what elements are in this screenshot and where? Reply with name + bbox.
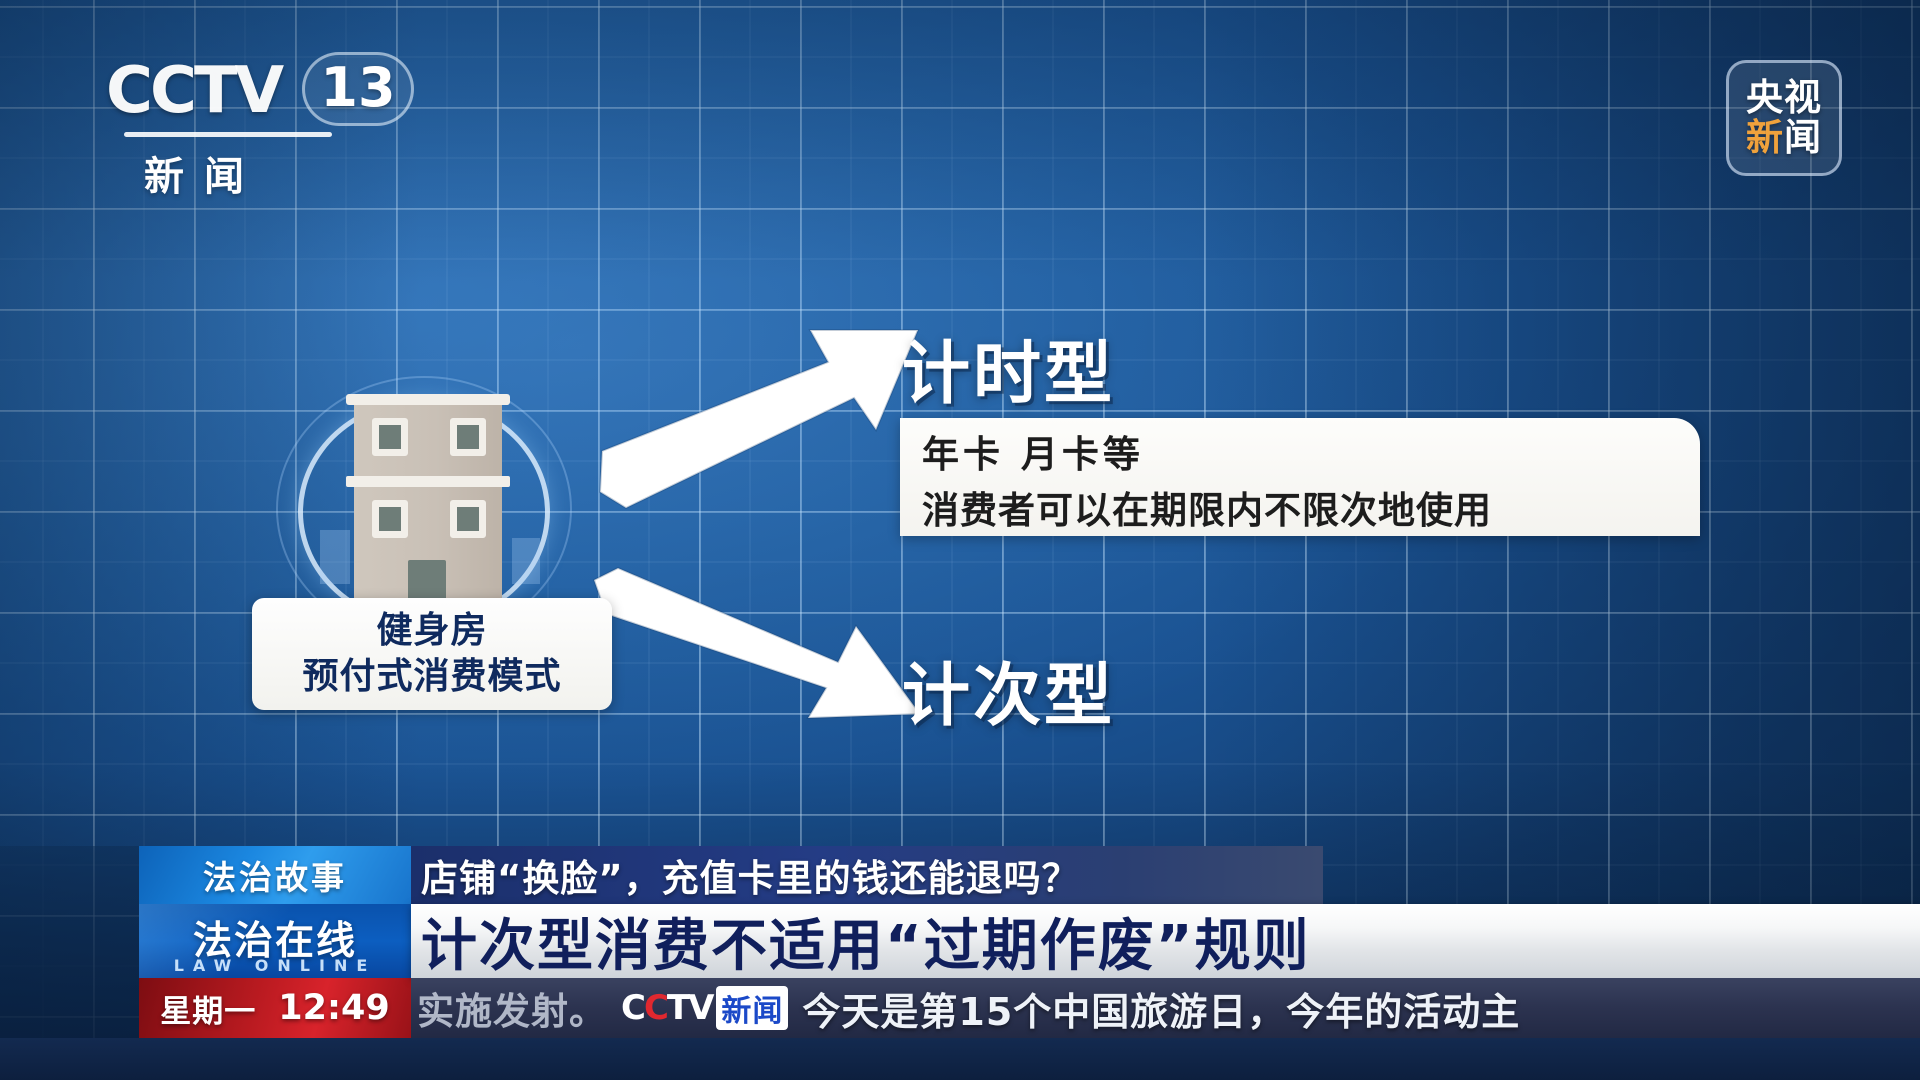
building-window xyxy=(450,500,486,538)
lower-third-left-pad xyxy=(0,846,139,1038)
ticker-cctv-news-logo: CCTV 新闻 xyxy=(621,986,788,1030)
corner-logo-line2: 新闻 xyxy=(1746,119,1822,157)
ticker-text: 今天是第15个中国旅游日，今年的活动主 xyxy=(802,981,1520,1036)
program-brand-column: 法治故事 法治在线 LAW ONLINE 星期一 12:49 xyxy=(139,846,411,1038)
ticker-cctv-red-c: C xyxy=(644,988,667,1028)
building-roof xyxy=(346,394,510,405)
arrow-up-right-icon xyxy=(596,312,926,512)
clock-label: 12:49 xyxy=(278,988,389,1028)
program-segment-label: 法治故事 xyxy=(203,851,347,899)
building-side-decor-left xyxy=(320,530,350,584)
program-segment-bar: 法治故事 xyxy=(139,846,411,904)
cctv-channel-number-badge: 13 xyxy=(302,52,414,126)
main-headline-text: 计次型消费不适用“过期作废”规则 xyxy=(421,901,1311,982)
building-window xyxy=(372,500,408,538)
sub-headline-bar: 店铺“换脸”，充值卡里的钱还能退吗？ xyxy=(411,846,1323,904)
main-headline-bar: 计次型消费不适用“过期作废”规则 xyxy=(411,904,1920,978)
program-name-en-label: LAW ONLINE xyxy=(174,956,377,975)
corner-logo-xin: 新 xyxy=(1746,116,1784,159)
ticker-news-badge: 新闻 xyxy=(716,986,788,1030)
sub-headline-text: 店铺“换脸”，充值卡里的钱还能退吗？ xyxy=(421,848,1080,902)
building-floor-band xyxy=(346,476,510,487)
branch-label-count: 计次型 xyxy=(902,640,1115,739)
cctv-wordmark: CCTV xyxy=(106,54,281,128)
news-ticker: 实施发射。 CCTV 新闻 今天是第15个中国旅游日，今年的活动主 xyxy=(411,978,1920,1038)
lower-third-bottom-fill xyxy=(0,1038,1920,1080)
ticker-prefix-text: 实施发射。 xyxy=(417,981,607,1035)
ticker-cctv-wordmark: CCTV xyxy=(621,988,712,1028)
cctv-logo-row: CCTV 13 xyxy=(106,56,416,134)
lower-third: 法治故事 法治在线 LAW ONLINE 星期一 12:49 店铺“换脸”，充值… xyxy=(0,846,1920,1080)
building-window xyxy=(372,418,408,456)
corner-logo-line1: 央视 xyxy=(1746,79,1822,117)
source-label-line-1: 健身房 xyxy=(376,608,487,654)
building-side-decor-right xyxy=(512,538,540,584)
broadcast-stage: CCTV 13 新闻 央视 新闻 计时型 计次型 xyxy=(0,0,1920,1080)
cctv13-channel-logo: CCTV 13 新闻 xyxy=(106,56,416,186)
weekday-label: 星期一 xyxy=(160,986,256,1031)
cctv-news-corner-logo: 央视 新闻 xyxy=(1726,60,1842,176)
callout-line-2: 消费者可以在期限内不限次地使用 xyxy=(922,483,1700,539)
clock-bar: 星期一 12:49 xyxy=(139,978,411,1038)
source-label-box: 健身房 预付式消费模式 xyxy=(252,598,612,710)
cctv-logo-underline xyxy=(124,132,332,137)
program-name-bar: 法治在线 LAW ONLINE xyxy=(139,904,411,978)
corner-logo-wen: 闻 xyxy=(1784,116,1822,159)
cctv-channel-number: 13 xyxy=(320,56,395,119)
arrow-down-right-icon xyxy=(588,566,928,736)
branch-label-timed: 计时型 xyxy=(902,318,1115,417)
callout-line-1: 年卡 月卡等 xyxy=(922,427,1700,483)
source-label-line-2: 预付式消费模式 xyxy=(302,654,561,700)
building-window xyxy=(450,418,486,456)
callout-box-timed: 年卡 月卡等 消费者可以在期限内不限次地使用 xyxy=(900,418,1700,536)
cctv-channel-subtitle: 新闻 xyxy=(144,144,264,202)
